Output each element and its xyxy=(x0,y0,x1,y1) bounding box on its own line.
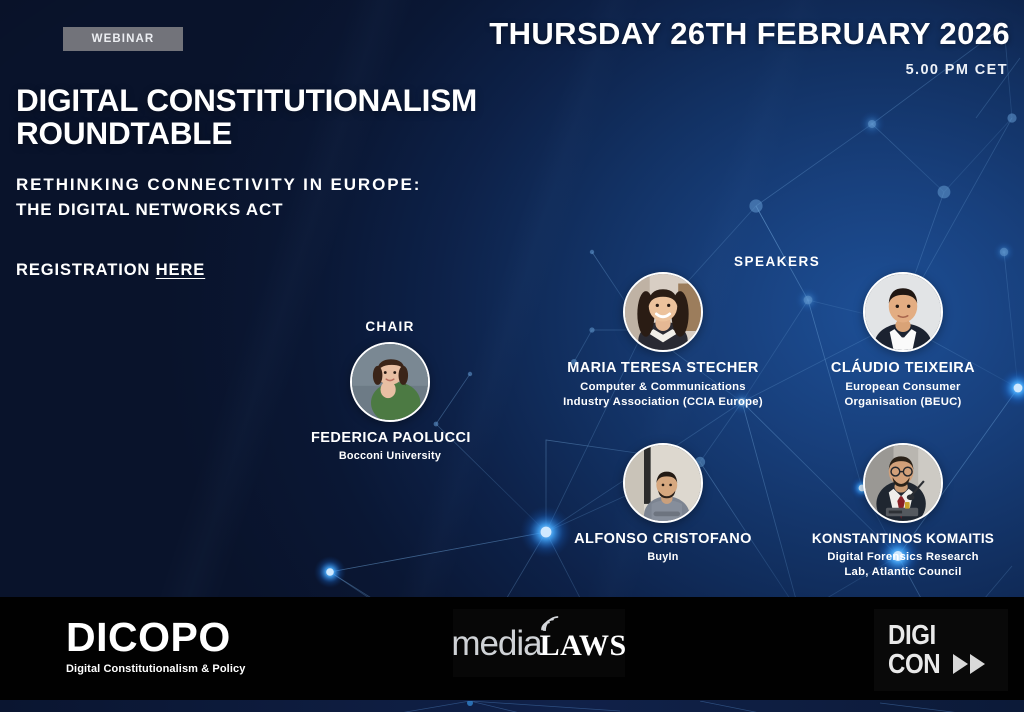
logo-dicopo: DICOPO Digital Constitutionalism & Polic… xyxy=(66,617,245,675)
chair-card: FEDERICA PAOLUCCI Bocconi University xyxy=(311,342,469,464)
registration-line: REGISTRATION HERE xyxy=(16,261,205,280)
footer-strip-network xyxy=(0,701,1024,712)
avatar-alfonso-cristofano xyxy=(623,443,703,523)
wifi-signal-icon xyxy=(539,613,561,631)
chair-name: FEDERICA PAOLUCCI xyxy=(311,430,469,447)
event-date: THURSDAY 26TH FEBRUARY 2026 xyxy=(489,16,1010,52)
speaker-card: ALFONSO CRISTOFANO BuyIn xyxy=(563,443,763,565)
speaker-card: KONSTANTINOS KOMAITIS Digital Forensics … xyxy=(808,443,998,579)
page-title: DIGITAL CONSTITUTIONALISM ROUNDTABLE xyxy=(16,84,576,151)
digicon-line-2: CON xyxy=(888,650,940,679)
speaker-name: KONSTANTINOS KOMAITIS xyxy=(808,531,998,547)
speaker-card: MARIA TERESA STECHER Computer & Communic… xyxy=(563,272,763,409)
speakers-section-label: SPEAKERS xyxy=(734,254,820,269)
speaker-card: CLÁUDIO TEIXEIRA European Consumer Organ… xyxy=(808,272,998,409)
speaker-name: MARIA TERESA STECHER xyxy=(563,360,763,377)
footer-bottom-strip xyxy=(0,700,1024,712)
medialaws-media-word: media xyxy=(451,626,541,661)
webinar-badge-label: WEBINAR xyxy=(92,33,155,45)
speaker-affiliation: European Consumer Organisation (BEUC) xyxy=(808,380,998,409)
webinar-badge: WEBINAR xyxy=(63,27,183,51)
webinar-poster: WEBINAR THURSDAY 26TH FEBRUARY 2026 5.00… xyxy=(0,0,1024,712)
avatar-maria-teresa-stecher xyxy=(623,272,703,352)
title-line-2: ROUNDTABLE xyxy=(16,115,232,151)
speaker-name: CLÁUDIO TEIXEIRA xyxy=(808,360,998,377)
chair-affiliation: Bocconi University xyxy=(311,450,469,464)
dicopo-wordmark: DICOPO xyxy=(66,617,245,658)
title-line-1: DIGITAL CONSTITUTIONALISM xyxy=(16,82,477,118)
speaker-affiliation-line-2: Lab, Atlantic Council xyxy=(844,566,961,578)
subtitle-line-2: THE DIGITAL NETWORKS ACT xyxy=(16,198,576,223)
avatar-claudio-teixeira xyxy=(863,272,943,352)
speaker-name: ALFONSO CRISTOFANO xyxy=(563,531,763,548)
speaker-affiliation-line-1: European Consumer xyxy=(845,381,960,393)
speaker-affiliation-line-1: Computer & Communications xyxy=(580,381,746,393)
speaker-affiliation: Digital Forensics Research Lab, Atlantic… xyxy=(808,550,998,579)
speaker-affiliation-line-2: Organisation (BEUC) xyxy=(844,396,961,408)
avatar-konstantinos-komaitis xyxy=(863,443,943,523)
subtitle-line-1: RETHINKING CONNECTIVITY IN EUROPE: xyxy=(16,173,576,198)
speaker-affiliation-line-1: Digital Forensics Research xyxy=(827,551,979,563)
event-time: 5.00 PM CET xyxy=(906,62,1008,78)
logo-digicon: DIGI CON xyxy=(874,609,1008,691)
double-play-arrow-icon xyxy=(951,651,987,677)
speaker-affiliation-line-2: Industry Association (CCIA Europe) xyxy=(563,396,763,408)
speaker-affiliation: Computer & Communications Industry Assoc… xyxy=(563,380,763,409)
registration-link[interactable]: HERE xyxy=(156,261,205,279)
medialaws-laws-word: LAWS xyxy=(540,631,627,661)
speaker-affiliation: BuyIn xyxy=(563,551,763,565)
avatar-federica-paolucci xyxy=(350,342,430,422)
dicopo-tagline: Digital Constitutionalism & Policy xyxy=(66,663,245,675)
registration-label: REGISTRATION xyxy=(16,261,156,279)
page-subtitle: RETHINKING CONNECTIVITY IN EUROPE: THE D… xyxy=(16,173,576,222)
digicon-line-1: DIGI xyxy=(888,621,936,650)
logo-medialaws: media LAWS xyxy=(453,609,625,677)
chair-section-label: CHAIR xyxy=(311,319,469,334)
